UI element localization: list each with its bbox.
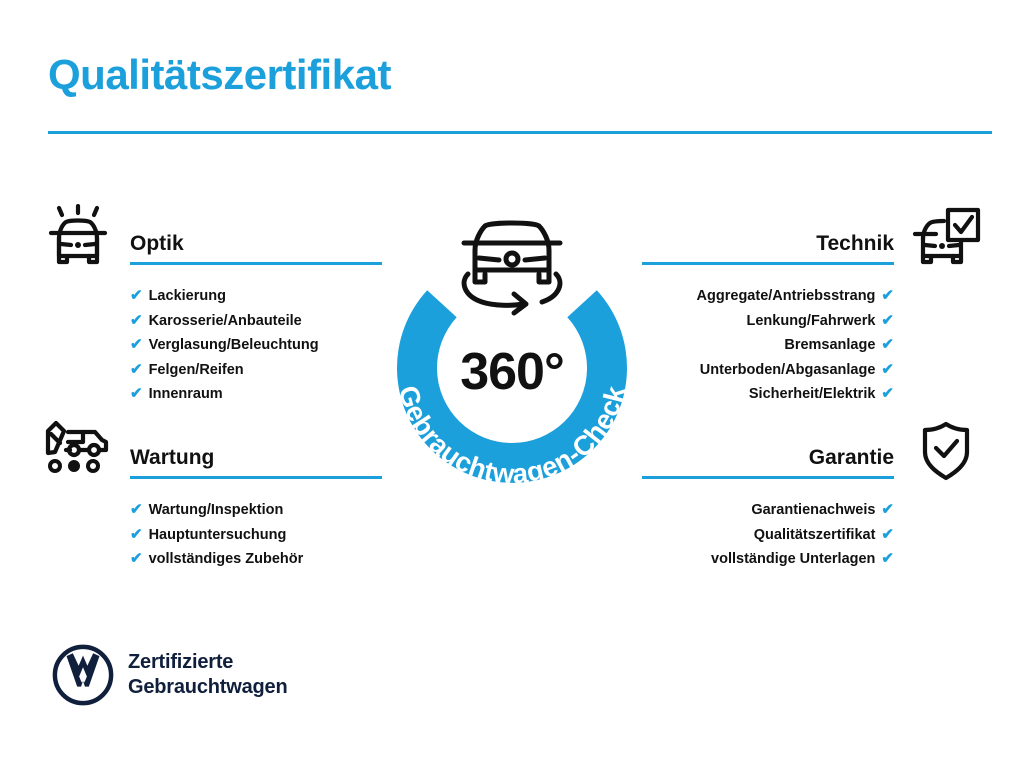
check-icon: ✔ — [881, 333, 894, 357]
section-header-garantie: Garantie — [642, 446, 894, 479]
list-item-label: Aggregate/Antriebsstrang — [697, 285, 876, 309]
check-icon: ✔ — [881, 547, 894, 571]
check-icon: ✔ — [881, 382, 894, 406]
list-item-label: Lenkung/Fahrwerk — [747, 310, 876, 334]
section-header-wartung: Wartung — [130, 446, 382, 479]
list-item-label: vollständige Unterlagen — [711, 548, 875, 572]
checklist-optik: ✔Lackierung ✔Karosserie/Anbauteile ✔Verg… — [130, 284, 382, 407]
list-item: ✔Lenkung/Fahrwerk — [642, 309, 894, 334]
badge-center-label: 360° — [373, 342, 651, 402]
list-item-label: Innenraum — [149, 383, 223, 407]
check-icon: ✔ — [130, 284, 143, 308]
list-item-label: Wartung/Inspektion — [149, 499, 284, 523]
section-underline — [130, 476, 382, 479]
list-item: ✔Karosserie/Anbauteile — [130, 309, 382, 334]
list-item: ✔Qualitätszertifikat — [642, 523, 894, 548]
check-icon: ✔ — [130, 382, 143, 406]
footer-line-2: Gebrauchtwagen — [128, 675, 287, 700]
list-item: ✔Lackierung — [130, 284, 382, 309]
footer-line-1: Zertifizierte — [128, 650, 287, 675]
footer-text: Zertifizierte Gebrauchtwagen — [128, 650, 287, 700]
shield-check-icon — [910, 418, 982, 484]
check-icon: ✔ — [130, 333, 143, 357]
check-icon: ✔ — [881, 284, 894, 308]
list-item: ✔Garantienachweis — [642, 498, 894, 523]
checklist-wartung: ✔Wartung/Inspektion ✔Hauptuntersuchung ✔… — [130, 498, 382, 572]
list-item: ✔Unterboden/Abgasanlage — [642, 358, 894, 383]
list-item: ✔Aggregate/Antriebsstrang — [642, 284, 894, 309]
list-item: ✔Bremsanlage — [642, 333, 894, 358]
list-item-label: Unterboden/Abgasanlage — [700, 359, 876, 383]
list-item: ✔Sicherheit/Elektrik — [642, 382, 894, 407]
pencil-car-icon — [42, 418, 114, 484]
list-item: ✔Verglasung/Beleuchtung — [130, 333, 382, 358]
checklist-technik: ✔Aggregate/Antriebsstrang ✔Lenkung/Fahrw… — [642, 284, 894, 407]
list-item: ✔Wartung/Inspektion — [130, 498, 382, 523]
check-icon: ✔ — [130, 523, 143, 547]
check-icon: ✔ — [881, 523, 894, 547]
list-item-label: Lackierung — [149, 285, 226, 309]
list-item-label: Hauptuntersuchung — [149, 524, 287, 548]
check-icon: ✔ — [130, 358, 143, 382]
car-checkbox-icon — [910, 204, 982, 270]
section-title: Technik — [642, 232, 894, 255]
check-icon: ✔ — [881, 309, 894, 333]
section-title: Wartung — [130, 446, 382, 469]
section-underline — [130, 262, 382, 265]
check-icon: ✔ — [130, 547, 143, 571]
list-item-label: Karosserie/Anbauteile — [149, 310, 302, 334]
check-icon: ✔ — [881, 498, 894, 522]
section-header-optik: Optik — [130, 232, 382, 265]
section-header-technik: Technik — [642, 232, 894, 265]
footer-logo: Zertifizierte Gebrauchtwagen — [52, 644, 287, 706]
list-item: ✔vollständiges Zubehör — [130, 547, 382, 572]
list-item-label: Qualitätszertifikat — [754, 524, 876, 548]
list-item-label: Bremsanlage — [784, 334, 875, 358]
list-item-label: vollständiges Zubehör — [149, 548, 304, 572]
car-shine-icon — [42, 204, 114, 270]
list-item-label: Garantienachweis — [751, 499, 875, 523]
list-item: ✔Innenraum — [130, 382, 382, 407]
checklist-garantie: ✔Garantienachweis ✔Qualitätszertifikat ✔… — [642, 498, 894, 572]
section-underline — [642, 476, 894, 479]
check-icon: ✔ — [130, 309, 143, 333]
list-item-label: Sicherheit/Elektrik — [749, 383, 876, 407]
list-item: ✔vollständige Unterlagen — [642, 547, 894, 572]
list-item: ✔Felgen/Reifen — [130, 358, 382, 383]
check-icon: ✔ — [881, 358, 894, 382]
list-item-label: Verglasung/Beleuchtung — [149, 334, 319, 358]
check-icon: ✔ — [130, 498, 143, 522]
section-underline — [642, 262, 894, 265]
header-divider — [48, 131, 992, 134]
page-title: Qualitätszertifikat — [48, 52, 391, 98]
section-title: Garantie — [642, 446, 894, 469]
vw-logo — [52, 644, 114, 706]
section-title: Optik — [130, 232, 382, 255]
list-item: ✔Hauptuntersuchung — [130, 523, 382, 548]
list-item-label: Felgen/Reifen — [149, 359, 244, 383]
badge-360-gebrauchtwagen-check: Gebrauchtwagen-Check 360° — [373, 196, 651, 488]
